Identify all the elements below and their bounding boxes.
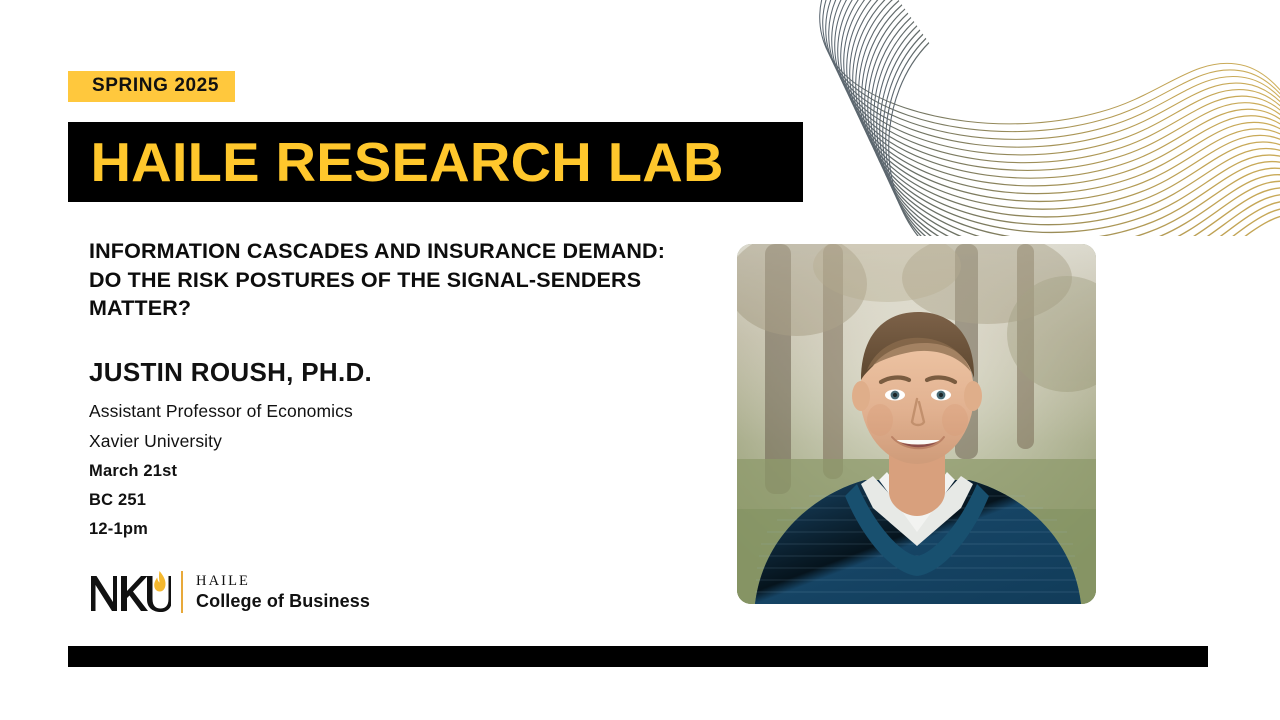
footer-bar [68,646,1208,667]
logo-text-block: HAILE College of Business [196,574,370,611]
lab-title-banner: HAILE RESEARCH LAB [68,122,803,202]
nku-haile-college-logo: HAILE College of Business [89,566,370,618]
speaker-photo [737,244,1096,604]
talk-title: INFORMATION CASCADES AND INSURANCE DEMAN… [89,237,679,323]
nku-wordmark-icon [89,569,171,615]
speaker-job-title: Assistant Professor of Economics [89,396,649,427]
logo-divider [181,571,183,613]
speaker-details: JUSTIN ROUSH, PH.D. Assistant Professor … [89,358,649,543]
event-time: 12-1pm [89,515,649,544]
flame-icon [154,571,165,592]
season-badge: SPRING 2025 [68,71,235,102]
logo-haile-label: HAILE [196,574,370,589]
lab-title-text: HAILE RESEARCH LAB [68,135,724,190]
logo-college-label: College of Business [196,592,370,610]
swirl-line-pattern-decoration [800,0,1280,236]
speaker-affiliation: Xavier University [89,426,649,457]
event-location: BC 251 [89,486,649,515]
presentation-slide: SPRING 2025 HAILE RESEARCH LAB INFORMATI… [0,0,1280,720]
event-date: March 21st [89,457,649,486]
speaker-name: JUSTIN ROUSH, PH.D. [89,358,649,387]
